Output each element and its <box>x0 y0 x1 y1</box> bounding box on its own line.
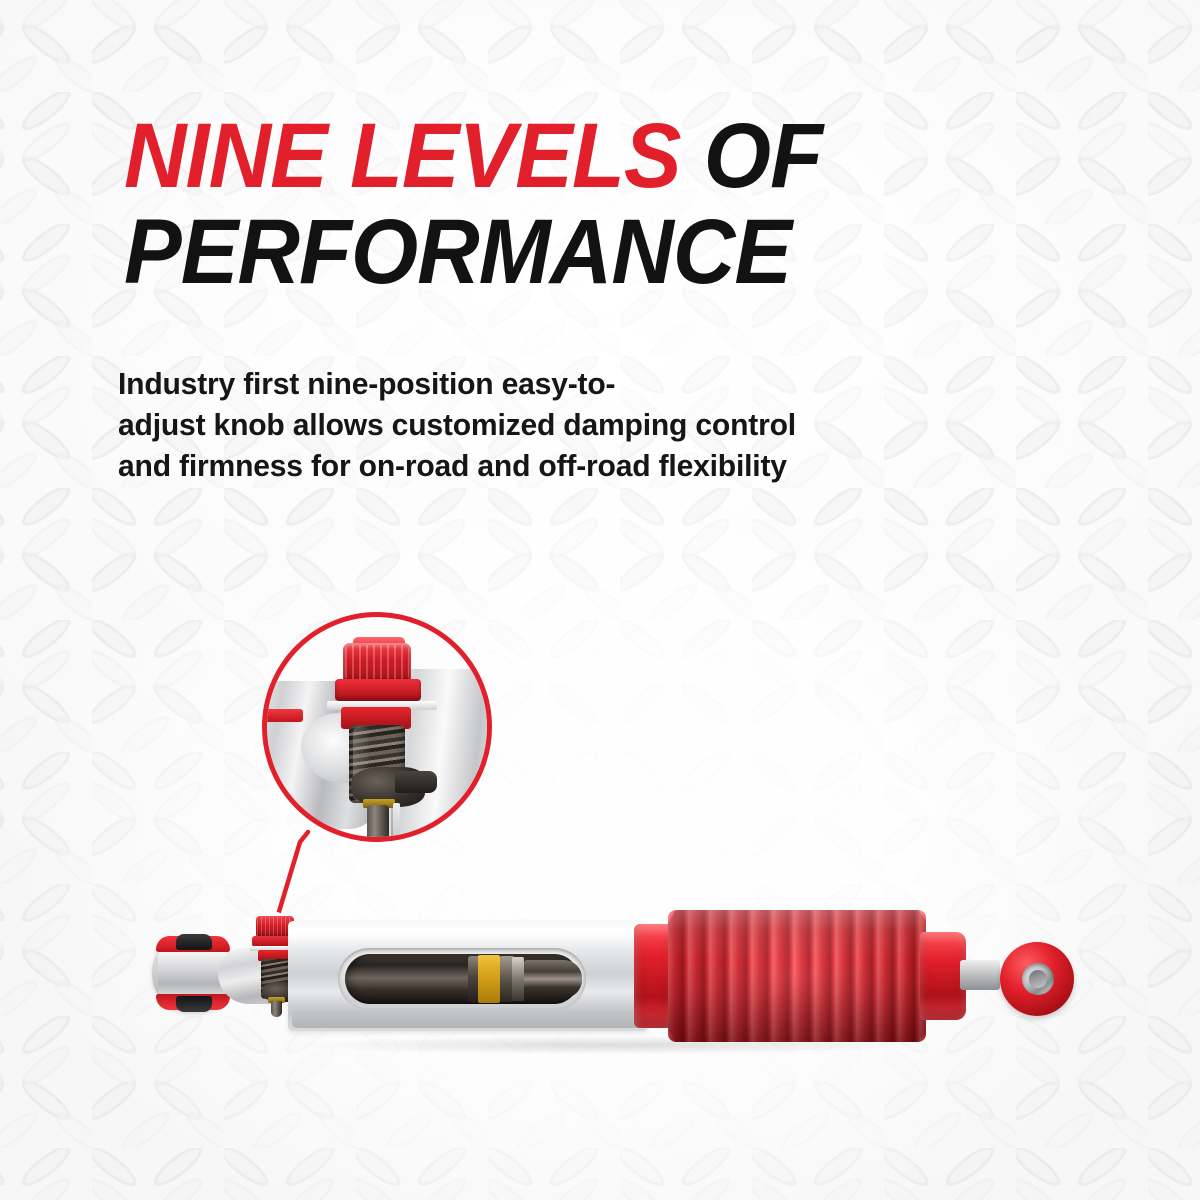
boot-shaft <box>960 960 1000 990</box>
piston-ring <box>512 957 524 1001</box>
left-eyelet-sleeve-bottom <box>176 996 212 1012</box>
shock-absorber-product <box>0 0 1200 1200</box>
left-eyelet-sleeve-top <box>176 934 212 950</box>
right-eyelet-bore <box>1029 970 1047 988</box>
feature-graphic-canvas: NINE LEVELS OF PERFORMANCE Industry firs… <box>0 0 1200 1200</box>
piston-band <box>478 955 500 1003</box>
adjuster-needle-pin <box>271 1001 282 1017</box>
boot-shading <box>668 910 926 1042</box>
shock-body-shading <box>292 1010 644 1028</box>
bellows-boot <box>634 906 974 1046</box>
shock-body-highlight <box>292 928 644 944</box>
piston-rod <box>524 960 582 998</box>
